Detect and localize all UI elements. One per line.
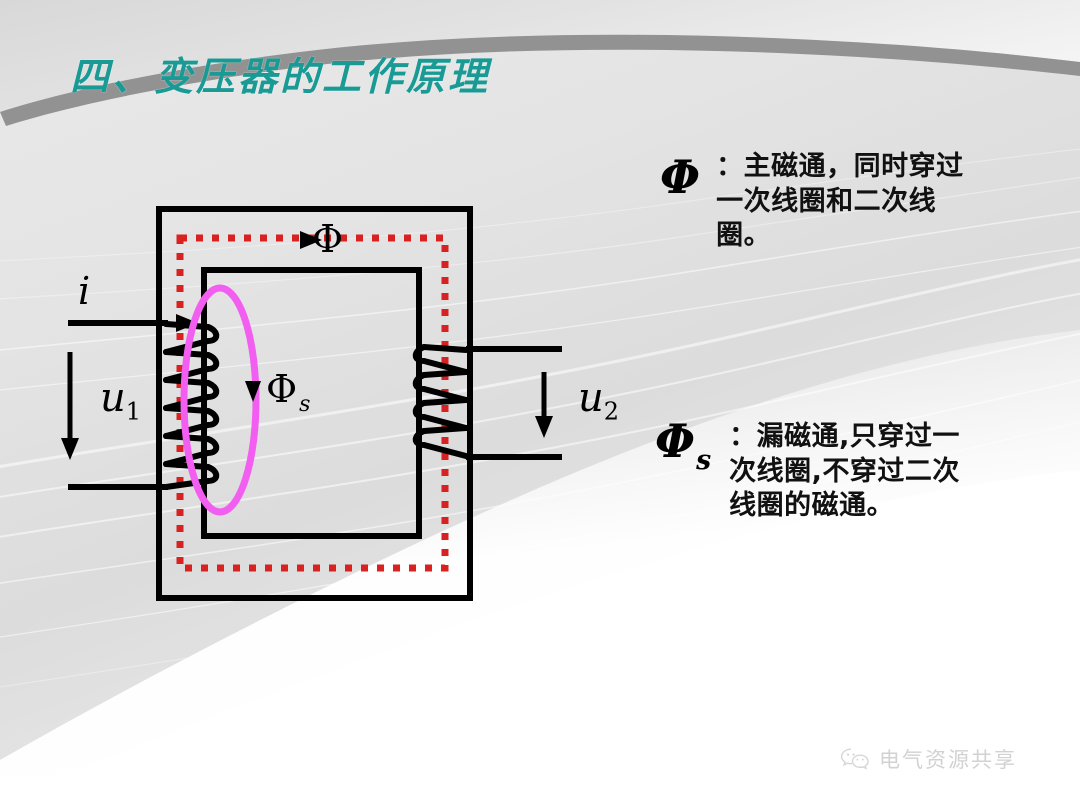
secondary-voltage-arrow-head-icon xyxy=(535,416,553,438)
label-leakage-flux-text: Φ xyxy=(266,367,297,411)
note-leakage-flux-symbol-text: Φ xyxy=(655,414,695,468)
note-leakage-flux-description: ：漏磁通,只穿过一次线圈,不穿过二次线圈的磁通。 xyxy=(729,412,979,524)
note-main-flux-description: ：主磁通，同时穿过一次线圈和二次线圈。 xyxy=(716,150,966,254)
label-secondary-voltage-subscript: 2 xyxy=(604,397,619,425)
label-secondary-voltage-text: u xyxy=(578,375,604,421)
label-main-flux: Φ xyxy=(312,220,343,258)
label-primary-voltage-subscript: 1 xyxy=(126,397,141,425)
label-current: i xyxy=(78,272,90,310)
note-main-flux: Φ ：主磁通，同时穿过一次线圈和二次线圈。 xyxy=(660,150,966,254)
note-main-flux-symbol: Φ xyxy=(660,154,700,200)
secondary-winding-coil xyxy=(416,347,466,456)
label-primary-voltage-text: u xyxy=(100,375,126,421)
label-main-flux-text: Φ xyxy=(312,217,343,261)
note-main-flux-symbol-text: Φ xyxy=(660,150,700,204)
label-secondary-voltage: u2 xyxy=(578,378,619,423)
slide-canvas: 四、变压器的工作原理 xyxy=(0,0,1080,810)
transformer-core-diagram xyxy=(0,0,700,700)
note-leakage-flux-symbol: Φs xyxy=(655,418,711,475)
watermark-text: 电气资源共享 xyxy=(879,744,1017,774)
wechat-icon xyxy=(840,747,870,772)
label-leakage-flux: Φs xyxy=(266,370,310,416)
primary-voltage-arrow-head-icon xyxy=(61,438,79,460)
label-leakage-flux-subscript: s xyxy=(299,392,310,417)
note-leakage-flux: Φs ：漏磁通,只穿过一次线圈,不穿过二次线圈的磁通。 xyxy=(655,412,979,524)
label-current-text: i xyxy=(78,269,90,313)
watermark: 电气资源共享 xyxy=(840,744,1017,774)
note-leakage-flux-symbol-subscript: s xyxy=(696,445,711,476)
label-primary-voltage: u1 xyxy=(100,378,141,423)
